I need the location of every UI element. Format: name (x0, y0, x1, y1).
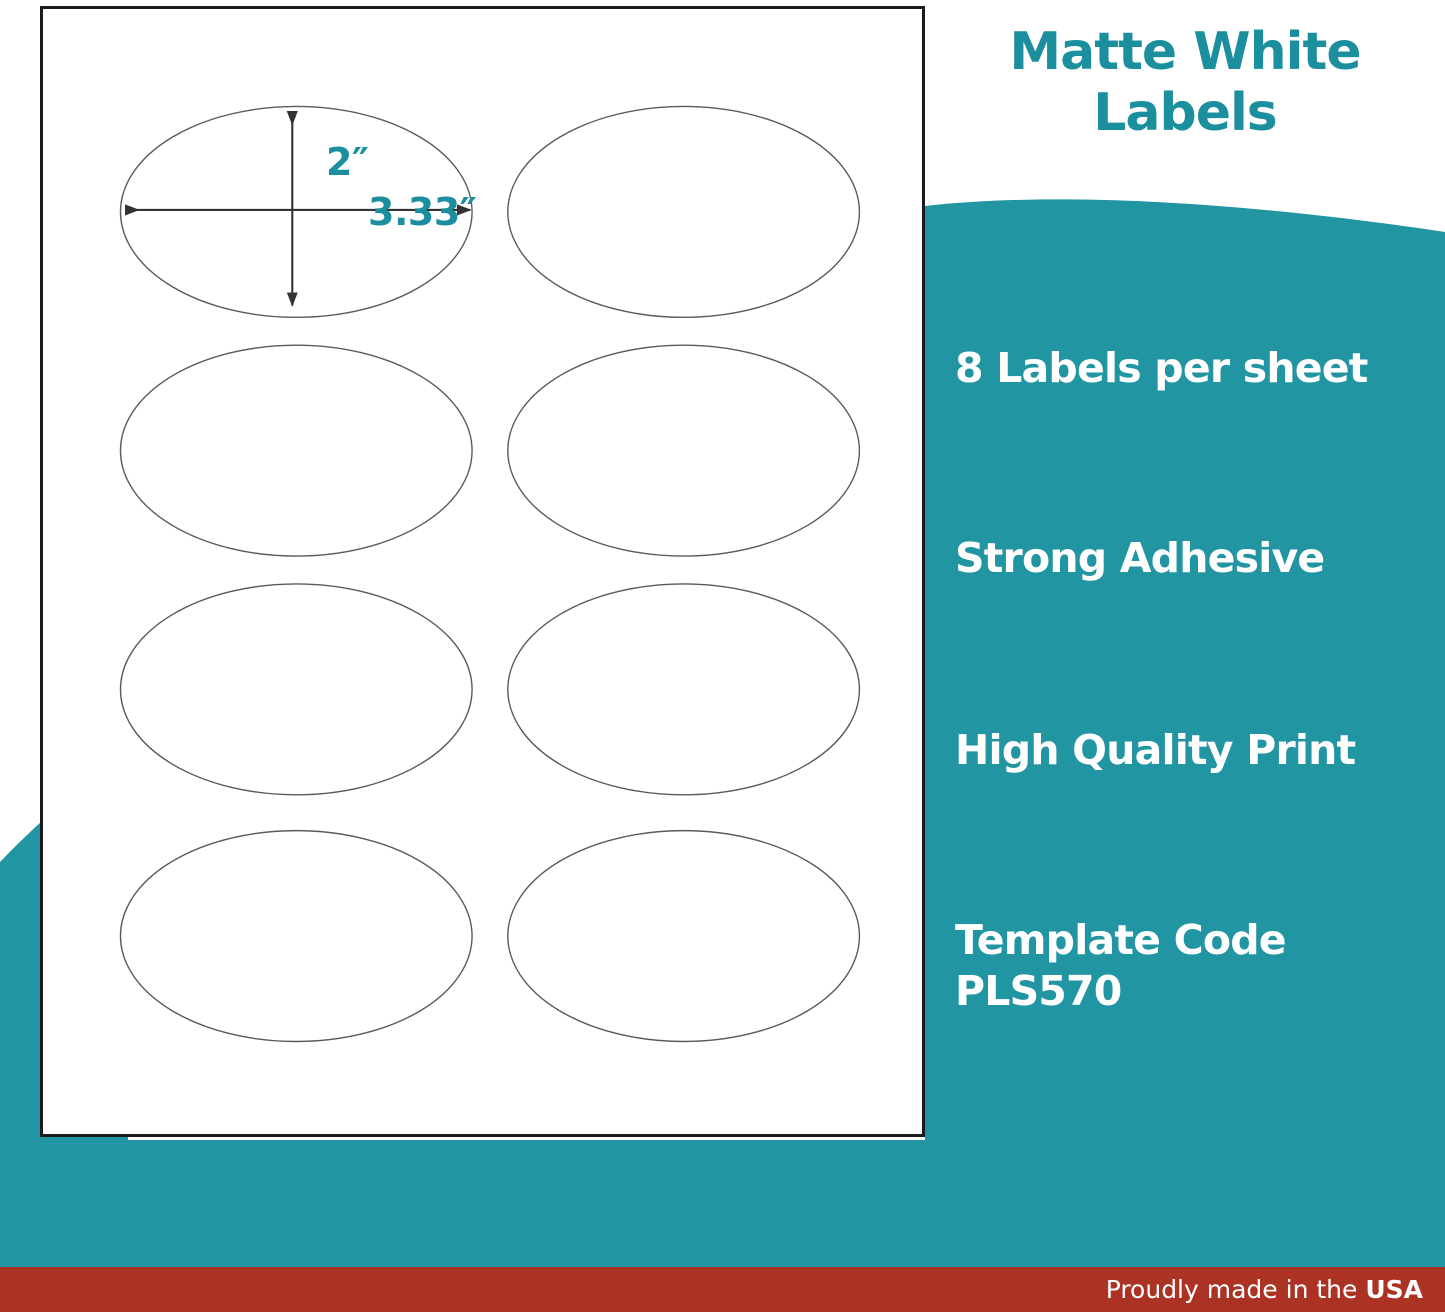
label-oval[interactable] (508, 831, 860, 1042)
dimension-height-label: 2″ (326, 140, 368, 184)
made-in-usa-text: Proudly made in the USA (1106, 1275, 1423, 1304)
feature-labels-per-sheet: 8 Labels per sheet (955, 343, 1433, 394)
label-oval[interactable] (120, 831, 472, 1042)
made-in-usa-prefix: Proudly made in the (1106, 1275, 1366, 1304)
feature-strong-adhesive: Strong Adhesive (955, 533, 1433, 584)
feature-template-code: Template Code PLS570 (955, 915, 1433, 1018)
label-grid (43, 9, 922, 1134)
dimension-width-label: 3.33″ (368, 190, 476, 234)
made-in-usa-country: USA (1365, 1275, 1423, 1304)
label-oval[interactable] (508, 106, 860, 317)
info-panel: Matte White Labels 8 Labels per sheet St… (925, 0, 1445, 1267)
label-oval[interactable] (508, 345, 860, 556)
label-sheet: 2″ 3.33″ (40, 6, 925, 1137)
label-oval[interactable] (120, 345, 472, 556)
product-infographic: 2″ 3.33″ Matte White Labels 8 Labels per… (0, 0, 1445, 1312)
feature-high-quality-print: High Quality Print (955, 725, 1433, 776)
product-title: Matte White Labels (925, 22, 1445, 145)
label-oval[interactable] (120, 584, 472, 795)
label-oval[interactable] (508, 584, 860, 795)
product-title-line-2: Labels (925, 83, 1445, 144)
made-in-usa-banner: Proudly made in the USA (0, 1267, 1445, 1312)
product-title-line-1: Matte White (925, 22, 1445, 83)
